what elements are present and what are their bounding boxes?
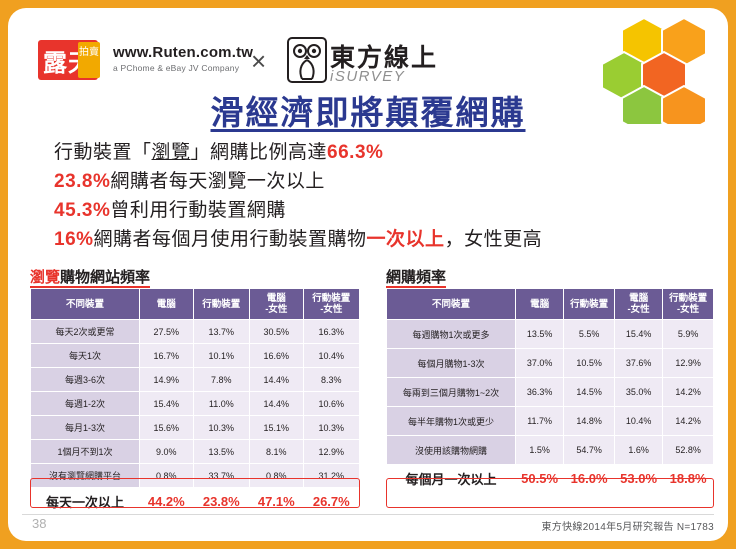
cell-value: 11.0% bbox=[193, 392, 249, 416]
cell-value: 14.2% bbox=[663, 378, 714, 407]
right-section-title-text: 網購頻率 bbox=[386, 269, 446, 288]
bullet-3-text: 曾利用行動裝置網購 bbox=[110, 200, 286, 221]
bullet-item-3: 45.3%曾利用行動裝置網購 bbox=[54, 198, 694, 224]
cell-value: 1.5% bbox=[516, 436, 564, 465]
bullet-1-underline: 瀏覽 bbox=[152, 142, 191, 163]
bullet-1-pre: 行動裝置「 bbox=[54, 142, 152, 163]
row-label: 每天1次 bbox=[31, 344, 140, 368]
bullet-item-4: 16%網購者每個月使用行動裝置購物一次以上，女性更高 bbox=[54, 227, 694, 253]
cell-value: 16.3% bbox=[303, 320, 359, 344]
bullet-4-mid: 網購者每個月使用行動裝置購物 bbox=[94, 229, 367, 250]
row-label: 每兩到三個月購物1~2次 bbox=[387, 378, 516, 407]
column-header-3-line-0: 電腦 bbox=[617, 293, 660, 304]
row-label: 每週3-6次 bbox=[31, 368, 140, 392]
cell-value: 16.6% bbox=[249, 344, 303, 368]
row-label: 每個月購物1-3次 bbox=[387, 349, 516, 378]
column-header-1: 電腦 bbox=[516, 289, 564, 320]
ruten-logo-badge: 拍賣 bbox=[78, 42, 100, 78]
cell-value: 14.4% bbox=[249, 368, 303, 392]
table-row: 每兩到三個月購物1~2次36.3%14.5%35.0%14.2% bbox=[387, 378, 714, 407]
bullet-3-highlight: 45.3% bbox=[54, 200, 110, 221]
column-header-3: 電腦-女性 bbox=[249, 289, 303, 320]
table-row: 每週購物1次或更多13.5%5.5%15.4%5.9% bbox=[387, 320, 714, 349]
cell-value: 35.0% bbox=[614, 378, 662, 407]
cell-value: 16.7% bbox=[140, 344, 194, 368]
table-row: 每半年購物1次或更少11.7%14.8%10.4%14.2% bbox=[387, 407, 714, 436]
bullet-4-post: ，女性更高 bbox=[445, 229, 543, 250]
footer-divider bbox=[22, 514, 714, 515]
table-header-row: 不同裝置電腦行動裝置電腦-女性行動裝置-女性 bbox=[31, 289, 360, 320]
column-header-1: 電腦 bbox=[140, 289, 194, 320]
slide: 露天 拍賣 www.Ruten.com.tw a PChome & eBay J… bbox=[8, 8, 728, 541]
left-section-title-red: 瀏覽 bbox=[30, 269, 60, 288]
column-header-0: 不同裝置 bbox=[31, 289, 140, 320]
purchase-frequency-table: 不同裝置電腦行動裝置電腦-女性行動裝置-女性每週購物1次或更多13.5%5.5%… bbox=[386, 288, 714, 491]
cell-value: 15.1% bbox=[249, 416, 303, 440]
cell-value: 10.4% bbox=[303, 344, 359, 368]
table-row: 每個月購物1-3次37.0%10.5%37.6%12.9% bbox=[387, 349, 714, 378]
left-summary-highlight-box bbox=[30, 478, 360, 508]
table-row: 每月1-3次15.6%10.3%15.1%10.3% bbox=[31, 416, 360, 440]
cell-value: 10.1% bbox=[193, 344, 249, 368]
column-header-3-line-0: 電腦 bbox=[252, 293, 301, 304]
cell-value: 14.2% bbox=[663, 407, 714, 436]
cell-value: 15.4% bbox=[140, 392, 194, 416]
cross-icon: × bbox=[251, 46, 266, 77]
column-header-4-line-1: -女性 bbox=[665, 304, 711, 315]
cell-value: 5.9% bbox=[663, 320, 714, 349]
column-header-3: 電腦-女性 bbox=[614, 289, 662, 320]
cell-value: 37.0% bbox=[516, 349, 564, 378]
cell-value: 8.1% bbox=[249, 440, 303, 464]
cell-value: 10.3% bbox=[193, 416, 249, 440]
column-header-4-line-0: 行動裝置 bbox=[665, 293, 711, 304]
column-header-4: 行動裝置-女性 bbox=[303, 289, 359, 320]
cell-value: 14.8% bbox=[564, 407, 615, 436]
bullet-1-mid: 」網購比例高達 bbox=[191, 142, 328, 163]
footer-note: 東方快線2014年5月研究報告 N=1783 bbox=[542, 518, 715, 533]
left-section-title-rest: 購物網站頻率 bbox=[60, 269, 150, 288]
bullet-2-highlight: 23.8% bbox=[54, 171, 110, 192]
cell-value: 5.5% bbox=[564, 320, 615, 349]
bullet-list: 行動裝置「瀏覽」網購比例高達66.3% 23.8%網購者每天瀏覽一次以上 45.… bbox=[54, 140, 694, 256]
page-title-text: 滑經濟即將顛覆網購 bbox=[211, 94, 526, 131]
bullet-4-highlight-2: 一次以上 bbox=[367, 229, 445, 250]
table-row: 每天2次或更常27.5%13.7%30.5%16.3% bbox=[31, 320, 360, 344]
bullet-1-highlight: 66.3% bbox=[327, 142, 383, 163]
right-section-title: 網購頻率 bbox=[386, 266, 446, 287]
cell-value: 1.6% bbox=[614, 436, 662, 465]
table-row: 每週3-6次14.9%7.8%14.4%8.3% bbox=[31, 368, 360, 392]
column-header-2: 行動裝置 bbox=[193, 289, 249, 320]
column-header-4: 行動裝置-女性 bbox=[663, 289, 714, 320]
column-header-2: 行動裝置 bbox=[564, 289, 615, 320]
column-header-4-line-0: 行動裝置 bbox=[306, 293, 357, 304]
table-header-row: 不同裝置電腦行動裝置電腦-女性行動裝置-女性 bbox=[387, 289, 714, 320]
right-summary-highlight-box bbox=[386, 478, 714, 508]
cell-value: 8.3% bbox=[303, 368, 359, 392]
row-label: 沒使用該購物網購 bbox=[387, 436, 516, 465]
cell-value: 15.4% bbox=[614, 320, 662, 349]
cell-value: 10.4% bbox=[614, 407, 662, 436]
owl-icon bbox=[286, 36, 328, 84]
column-header-0: 不同裝置 bbox=[387, 289, 516, 320]
cell-value: 7.8% bbox=[193, 368, 249, 392]
ruten-tagline-text: a PChome & eBay JV Company bbox=[113, 63, 239, 73]
column-header-4-line-1: -女性 bbox=[306, 304, 357, 315]
row-label: 每週1-2次 bbox=[31, 392, 140, 416]
cell-value: 14.9% bbox=[140, 368, 194, 392]
row-label: 每月1-3次 bbox=[31, 416, 140, 440]
table-row: 沒使用該購物網購1.5%54.7%1.6%52.8% bbox=[387, 436, 714, 465]
column-header-3-line-1: -女性 bbox=[617, 304, 660, 315]
cell-value: 54.7% bbox=[564, 436, 615, 465]
column-header-3-line-1: -女性 bbox=[252, 304, 301, 315]
cell-value: 13.5% bbox=[193, 440, 249, 464]
isurvey-en-text: iSURVEY bbox=[330, 68, 405, 85]
row-label: 每半年購物1次或更少 bbox=[387, 407, 516, 436]
cell-value: 12.9% bbox=[663, 349, 714, 378]
cell-value: 11.7% bbox=[516, 407, 564, 436]
table-row: 1個月不到1次9.0%13.5%8.1%12.9% bbox=[31, 440, 360, 464]
cell-value: 14.5% bbox=[564, 378, 615, 407]
cell-value: 30.5% bbox=[249, 320, 303, 344]
cell-value: 9.0% bbox=[140, 440, 194, 464]
page-number: 38 bbox=[32, 516, 46, 531]
table-row: 每天1次16.7%10.1%16.6%10.4% bbox=[31, 344, 360, 368]
cell-value: 36.3% bbox=[516, 378, 564, 407]
slide-header: 露天 拍賣 www.Ruten.com.tw a PChome & eBay J… bbox=[8, 8, 728, 120]
cell-value: 15.6% bbox=[140, 416, 194, 440]
cell-value: 13.7% bbox=[193, 320, 249, 344]
left-section-title: 瀏覽購物網站頻率 bbox=[30, 266, 150, 287]
bullet-item-2: 23.8%網購者每天瀏覽一次以上 bbox=[54, 169, 694, 195]
cell-value: 14.4% bbox=[249, 392, 303, 416]
row-label: 每週購物1次或更多 bbox=[387, 320, 516, 349]
page-title: 滑經濟即將顛覆網購 bbox=[8, 86, 728, 134]
row-label: 1個月不到1次 bbox=[31, 440, 140, 464]
ruten-url-text: www.Ruten.com.tw bbox=[113, 44, 253, 61]
cell-value: 10.6% bbox=[303, 392, 359, 416]
bullet-2-text: 網購者每天瀏覽一次以上 bbox=[110, 171, 325, 192]
cell-value: 37.6% bbox=[614, 349, 662, 378]
cell-value: 13.5% bbox=[516, 320, 564, 349]
bullet-item-1: 行動裝置「瀏覽」網購比例高達66.3% bbox=[54, 140, 694, 166]
row-label: 每天2次或更常 bbox=[31, 320, 140, 344]
cell-value: 12.9% bbox=[303, 440, 359, 464]
cell-value: 10.5% bbox=[564, 349, 615, 378]
cell-value: 10.3% bbox=[303, 416, 359, 440]
cell-value: 27.5% bbox=[140, 320, 194, 344]
cell-value: 52.8% bbox=[663, 436, 714, 465]
bullet-4-highlight: 16% bbox=[54, 229, 94, 250]
table-row: 每週1-2次15.4%11.0%14.4%10.6% bbox=[31, 392, 360, 416]
